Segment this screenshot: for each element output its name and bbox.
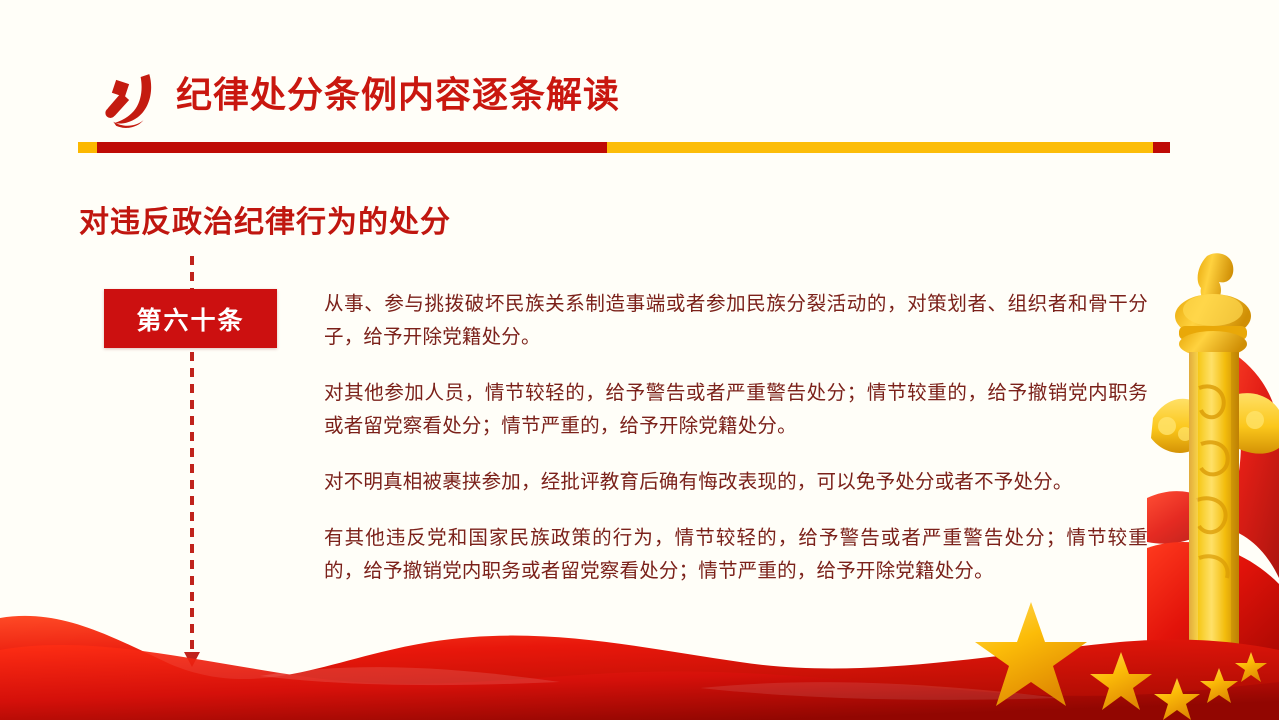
party-hammer-sickle-icon	[96, 64, 168, 136]
slide-header: 纪律处分条例内容逐条解读	[0, 0, 1279, 160]
article-paragraph: 从事、参与挑拨破坏民族关系制造事端或者参加民族分裂活动的，对策划者、组织者和骨干…	[324, 288, 1148, 354]
divider-segment-yellow-main	[607, 142, 1153, 153]
divider-segment-yellow-start	[78, 142, 97, 153]
divider-segment-red-end	[1153, 142, 1170, 153]
slide-root: 纪律处分条例内容逐条解读 对违反政治纪律行为的处分 第六十条 从事、参与挑拨破坏…	[0, 0, 1279, 720]
divider-segment-red-main	[97, 142, 607, 153]
article-number-badge: 第六十条	[104, 289, 277, 348]
article-body: 从事、参与挑拨破坏民族关系制造事端或者参加民族分裂活动的，对策划者、组织者和骨干…	[324, 288, 1148, 588]
page-title: 纪律处分条例内容逐条解读	[176, 72, 620, 118]
article-paragraph: 有其他违反党和国家民族政策的行为，情节较轻的，给予警告或者严重警告处分；情节较重…	[324, 522, 1148, 588]
article-paragraph: 对不明真相被裹挟参加，经批评教育后确有悔改表现的，可以免予处分或者不予处分。	[324, 466, 1148, 499]
header-divider-bar	[78, 142, 1170, 153]
article-paragraph: 对其他参加人员，情节较轻的，给予警告或者严重警告处分；情节较重的，给予撤销党内职…	[324, 377, 1148, 443]
huabiao-pillar-icon	[1147, 248, 1279, 668]
timeline-arrow-icon	[184, 652, 200, 667]
section-heading: 对违反政治纪律行为的处分	[79, 197, 451, 241]
five-golden-stars-icon	[959, 590, 1279, 720]
